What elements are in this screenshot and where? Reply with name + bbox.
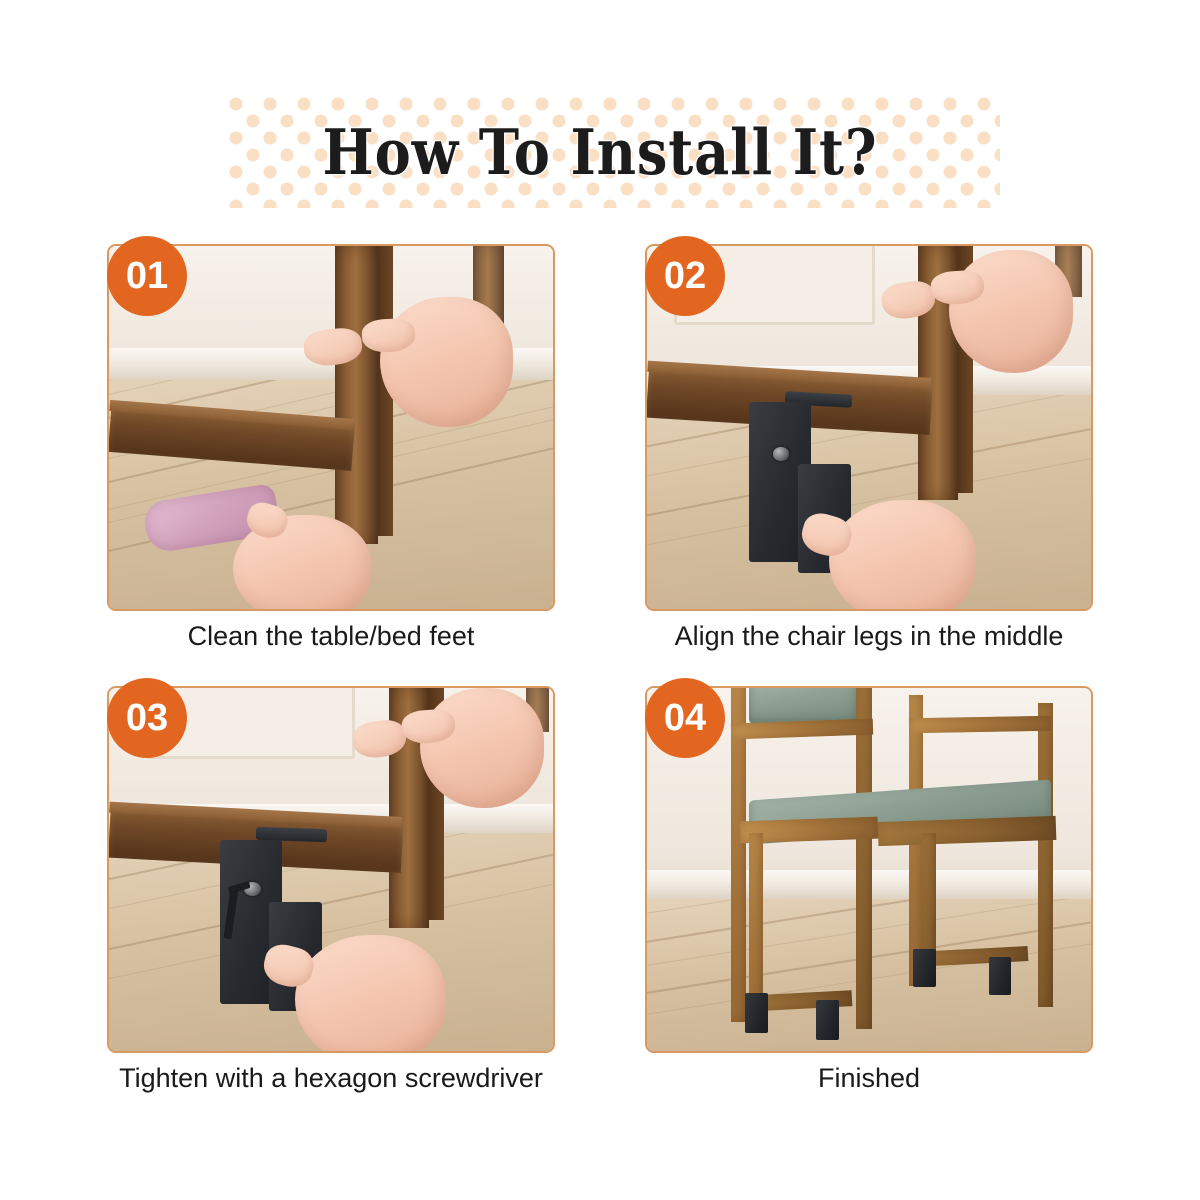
- bracket-screw: [773, 447, 789, 460]
- step-caption-04: Finished: [605, 1063, 1133, 1094]
- installed-bracket-1: [745, 993, 768, 1033]
- step-card-04: 04 Finished: [645, 678, 1093, 1118]
- step-badge-03: 03: [107, 678, 187, 758]
- header: How To Install It?: [0, 92, 1200, 212]
- step-caption-01: Clean the table/bed feet: [67, 621, 595, 652]
- installed-bracket-3: [913, 949, 935, 987]
- steps-grid: 01 Clean the table/bed feet: [0, 236, 1200, 1146]
- step-card-03: 03 Tighten with a hexagon screwdriver: [107, 678, 555, 1118]
- step-badge-02: 02: [645, 236, 725, 316]
- bracket-lip: [255, 827, 326, 842]
- step-caption-02: Align the chair legs in the middle: [605, 621, 1133, 652]
- installed-bracket-2: [816, 1000, 839, 1040]
- chair-back-cushion: [749, 686, 856, 724]
- step-badge-01: 01: [107, 236, 187, 316]
- page-title: How To Install It?: [84, 92, 1116, 212]
- step-card-01: 01 Clean the table/bed feet: [107, 236, 555, 676]
- installed-bracket-4: [989, 957, 1011, 995]
- step-badge-04: 04: [645, 678, 725, 758]
- step-caption-03: Tighten with a hexagon screwdriver: [67, 1063, 595, 1094]
- step-card-02: 02 Align the chair legs in the middle: [645, 236, 1093, 676]
